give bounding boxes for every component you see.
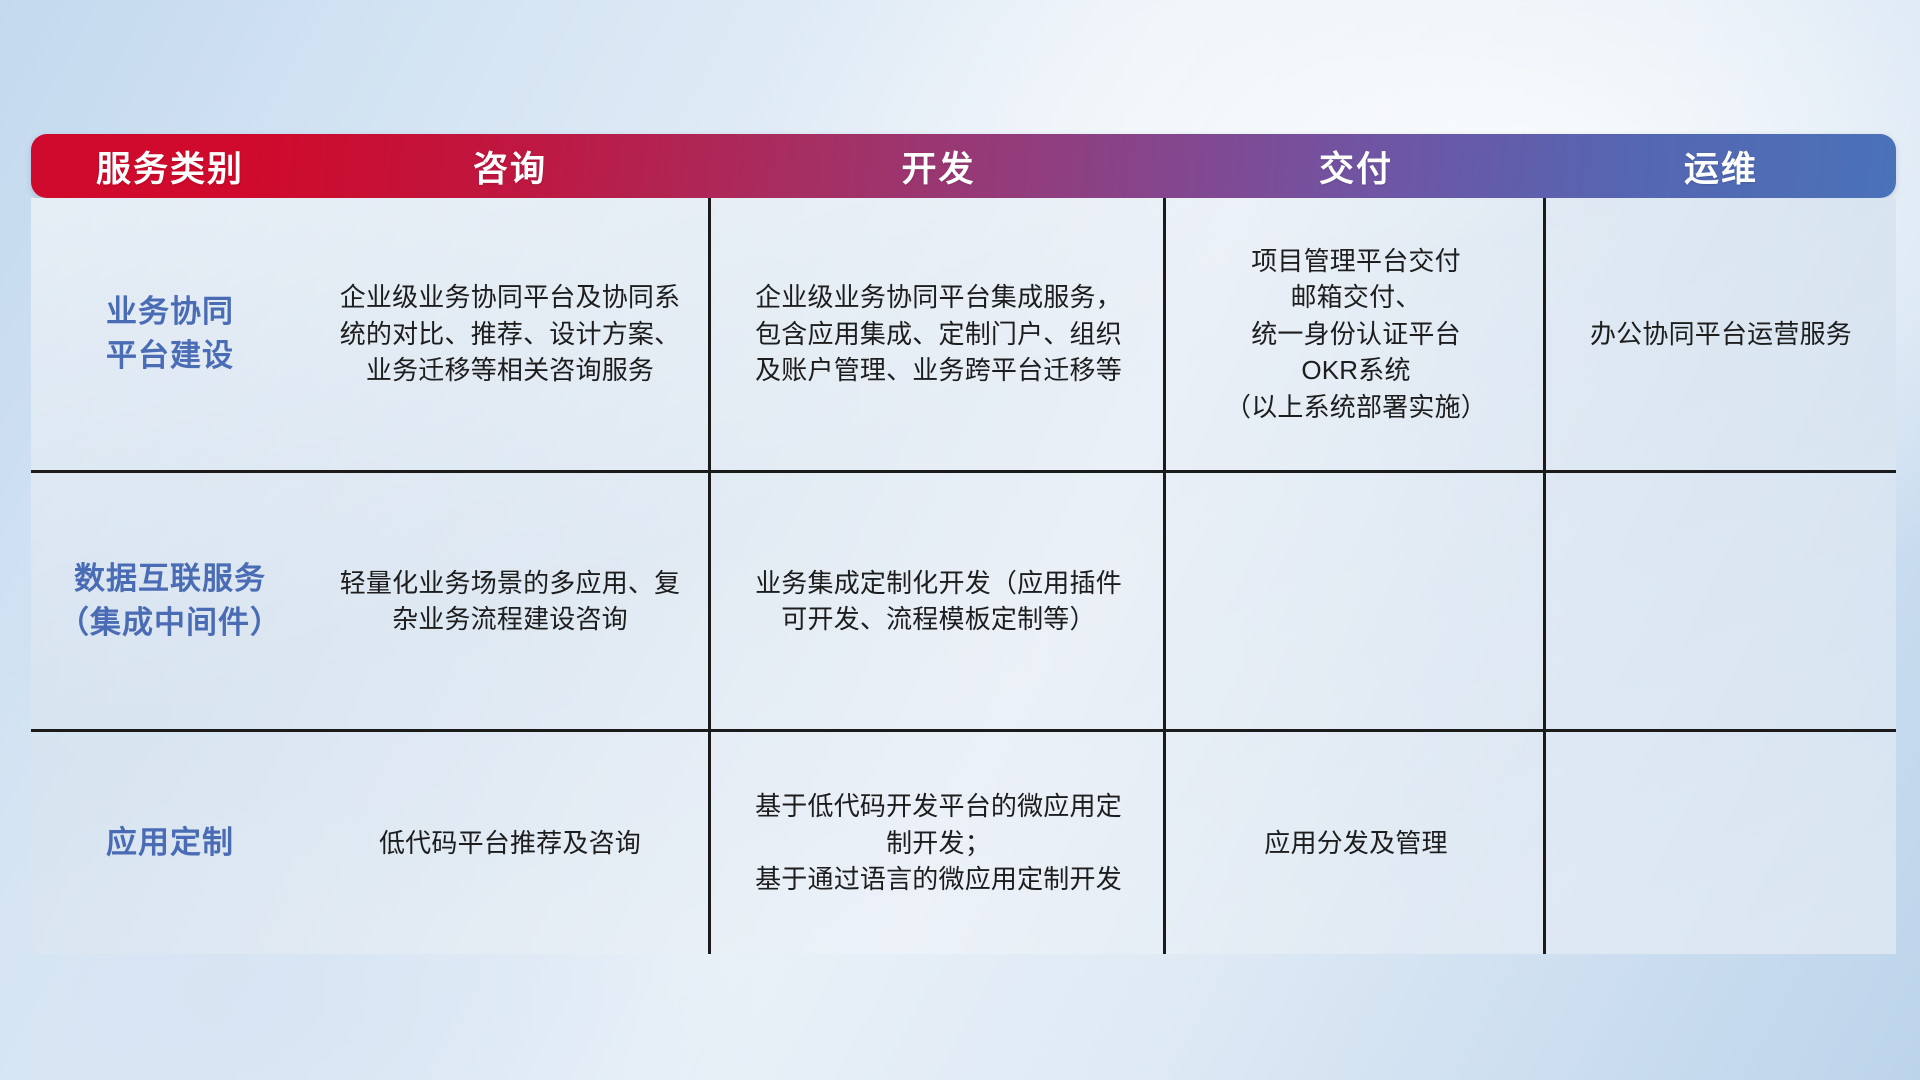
row-2-development-text: 业务集成定制化开发（应用插件可开发、流程模板定制等） xyxy=(755,565,1122,638)
table-row: 业务协同平台建设 企业级业务协同平台及协同系统的对比、推荐、设计方案、业务迁移等… xyxy=(31,198,1896,470)
header-cell-consulting: 咨询 xyxy=(309,134,711,198)
table-body: 业务协同平台建设 企业级业务协同平台及协同系统的对比、推荐、设计方案、业务迁移等… xyxy=(31,198,1896,954)
row-2-consulting-text: 轻量化业务场景的多应用、复杂业务流程建设咨询 xyxy=(340,565,681,638)
row-3-consulting-text: 低代码平台推荐及咨询 xyxy=(379,825,641,861)
row-3-cell-delivery: 应用分发及管理 xyxy=(1166,732,1546,954)
row-3-cell-consulting: 低代码平台推荐及咨询 xyxy=(309,732,711,954)
row-3-category-label: 应用定制 xyxy=(106,821,234,865)
header-cell-category: 服务类别 xyxy=(31,134,309,198)
header-cell-development: 开发 xyxy=(711,134,1166,198)
table-row: 数据互联服务（集成中间件） 轻量化业务场景的多应用、复杂业务流程建设咨询 业务集… xyxy=(31,470,1896,729)
row-3-cell-development: 基于低代码开发平台的微应用定制开发；基于通过语言的微应用定制开发 xyxy=(711,732,1166,954)
header-cell-delivery: 交付 xyxy=(1166,134,1546,198)
row-1-operations-text: 办公协同平台运营服务 xyxy=(1590,316,1852,352)
slide-canvas: 服务类别 咨询 开发 交付 运维 业务协同平台建设 企业级业务协同平台及协同系统… xyxy=(0,0,1920,1080)
row-3-cell-category: 应用定制 xyxy=(31,732,309,954)
row-1-development-text: 企业级业务协同平台集成服务，包含应用集成、定制门户、组织及账户管理、业务跨平台迁… xyxy=(755,279,1122,388)
row-1-consulting-text: 企业级业务协同平台及协同系统的对比、推荐、设计方案、业务迁移等相关咨询服务 xyxy=(340,279,681,388)
table-row: 应用定制 低代码平台推荐及咨询 基于低代码开发平台的微应用定制开发；基于通过语言… xyxy=(31,729,1896,954)
row-1-cell-consulting: 企业级业务协同平台及协同系统的对比、推荐、设计方案、业务迁移等相关咨询服务 xyxy=(309,198,711,470)
table-header-row: 服务类别 咨询 开发 交付 运维 xyxy=(31,134,1896,198)
row-2-cell-delivery xyxy=(1166,473,1546,729)
service-matrix-table: 服务类别 咨询 开发 交付 运维 业务协同平台建设 企业级业务协同平台及协同系统… xyxy=(31,134,1896,954)
row-1-cell-delivery: 项目管理平台交付邮箱交付、统一身份认证平台OKR系统（以上系统部署实施） xyxy=(1166,198,1546,470)
row-1-cell-operations: 办公协同平台运营服务 xyxy=(1546,198,1896,470)
row-1-category-label: 业务协同平台建设 xyxy=(106,290,234,378)
row-2-cell-consulting: 轻量化业务场景的多应用、复杂业务流程建设咨询 xyxy=(309,473,711,729)
row-1-cell-category: 业务协同平台建设 xyxy=(31,198,309,470)
row-3-cell-operations xyxy=(1546,732,1896,954)
row-2-cell-category: 数据互联服务（集成中间件） xyxy=(31,473,309,729)
row-2-cell-development: 业务集成定制化开发（应用插件可开发、流程模板定制等） xyxy=(711,473,1166,729)
row-3-development-text: 基于低代码开发平台的微应用定制开发；基于通过语言的微应用定制开发 xyxy=(755,788,1122,897)
row-2-category-label: 数据互联服务（集成中间件） xyxy=(58,557,282,645)
row-3-delivery-text: 应用分发及管理 xyxy=(1264,825,1447,861)
row-2-cell-operations xyxy=(1546,473,1896,729)
row-1-delivery-text: 项目管理平台交付邮箱交付、统一身份认证平台OKR系统（以上系统部署实施） xyxy=(1225,243,1487,425)
row-1-cell-development: 企业级业务协同平台集成服务，包含应用集成、定制门户、组织及账户管理、业务跨平台迁… xyxy=(711,198,1166,470)
header-cell-operations: 运维 xyxy=(1546,134,1896,198)
